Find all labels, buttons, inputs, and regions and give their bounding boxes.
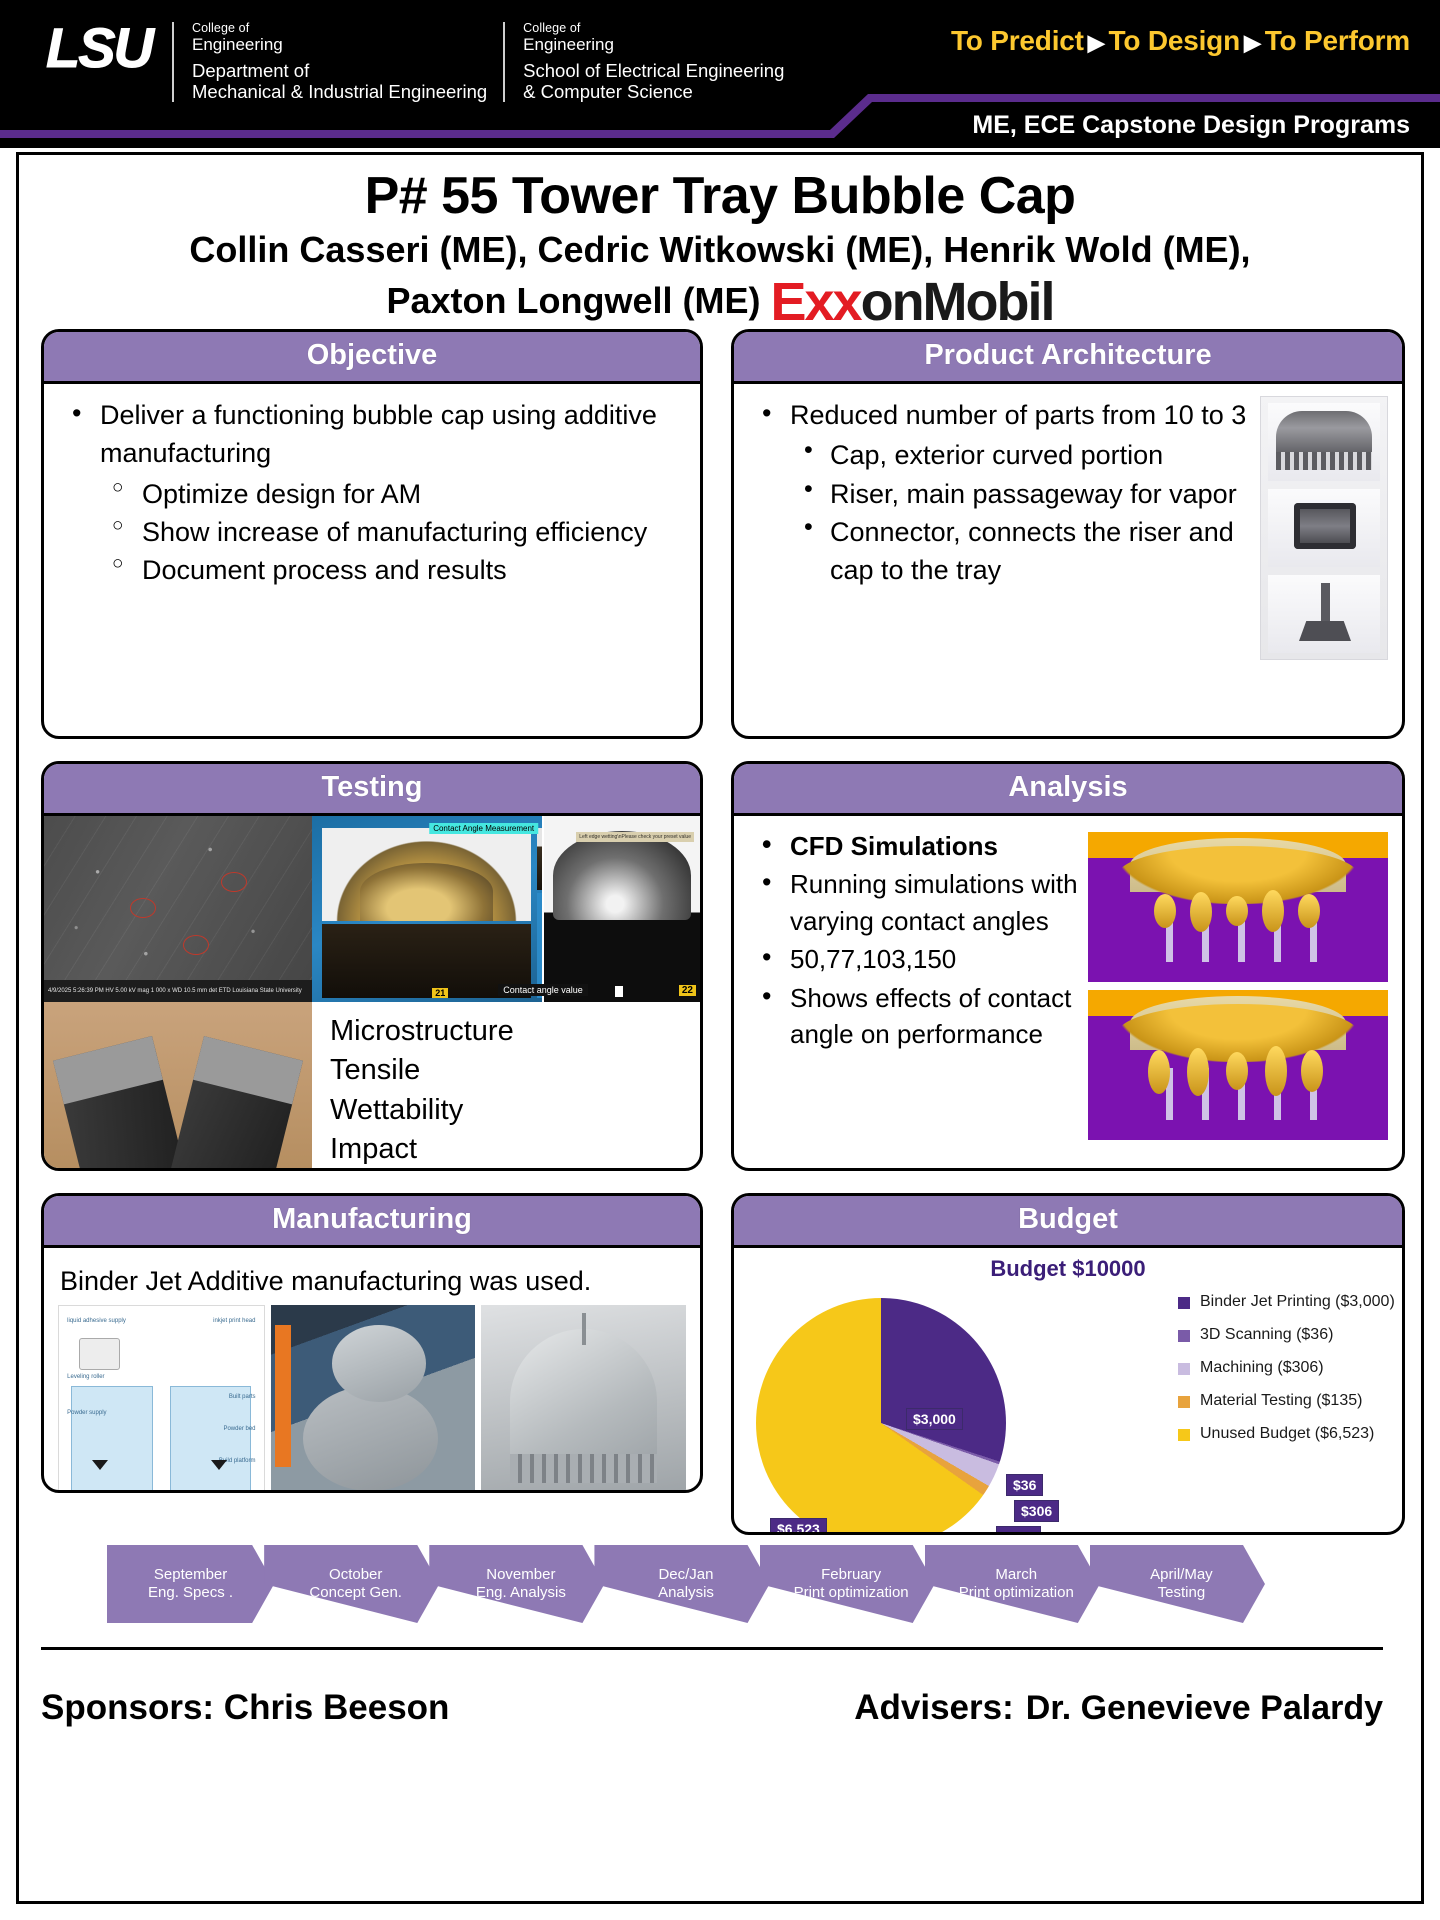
budget-chart-area: $3,000 $36 $306 $135 $6,523 Binder Jet P… [734, 1282, 1402, 1534]
pie-chart-graphic [756, 1298, 1006, 1535]
tagline-predict: To Predict [951, 25, 1084, 56]
legend-item: Machining ($306) [1178, 1358, 1396, 1378]
contact-angle-title: Contact Angle Measurement [429, 823, 538, 834]
cfd-simulation-top [1088, 832, 1388, 982]
legend-label: 3D Scanning ($36) [1200, 1325, 1333, 1345]
list-item: Show increase of manufacturing efficienc… [102, 513, 686, 551]
legend-item: 3D Scanning ($36) [1178, 1325, 1396, 1345]
pie-label-machining: $306 [1014, 1500, 1059, 1522]
list-item: 50,77,103,150 [748, 941, 1082, 977]
card-testing: Testing 4/9/2025 5:26:39 PM HV 5.00 kV m… [41, 761, 703, 1171]
analysis-text: CFD Simulations Running simulations with… [748, 828, 1082, 1140]
timeline-month: February [821, 1566, 881, 1584]
card-budget-heading: Budget [734, 1196, 1402, 1248]
list-item: Document process and results [102, 551, 686, 589]
dept-me-engineering: Engineering [192, 35, 487, 54]
frame-number-21: 21 [432, 988, 448, 998]
pie-label-material-testing: $135 [996, 1526, 1041, 1535]
legend-swatch-icon [1178, 1396, 1190, 1408]
contact-angle-left-panel [322, 828, 531, 998]
timeline-task: Analysis [658, 1584, 714, 1602]
architecture-text: Reduced number of parts from 10 to 3 Cap… [748, 396, 1254, 660]
architecture-part-images [1260, 396, 1388, 660]
card-budget: Budget Budget $10000 $3,000 $36 $306 $13… [731, 1193, 1405, 1535]
card-objective-body: Deliver a functioning bubble cap using a… [44, 384, 700, 602]
sponsors-text: Sponsors: Chris Beeson [41, 1688, 449, 1728]
advisers-block: Advisers: Dr. Genevieve Palardy [854, 1688, 1383, 1728]
contact-angle-value-box [615, 986, 623, 997]
exxon-logo-dark: onMobil [861, 272, 1054, 332]
budget-chart-title: Budget $10000 [734, 1248, 1402, 1282]
contact-angle-value-label: Contact angle value [498, 984, 588, 996]
timeline-task: Testing [1158, 1584, 1206, 1602]
exxon-logo-red: Exx [770, 272, 860, 332]
title-area: P# 55 Tower Tray Bubble Cap Collin Casse… [19, 155, 1421, 329]
card-manufacturing-heading: Manufacturing [44, 1196, 700, 1248]
diagram-label-5: Powder bed [223, 1426, 255, 1432]
authors-line-2-row: Paxton Longwell (ME) ExxonMobil [41, 276, 1399, 325]
card-analysis-heading: Analysis [734, 764, 1402, 816]
legend-swatch-icon [1178, 1363, 1190, 1375]
sem-micrograph-image: 4/9/2025 5:26:39 PM HV 5.00 kV mag 1 000… [44, 816, 312, 1002]
card-analysis-body: CFD Simulations Running simulations with… [734, 816, 1402, 1152]
card-objective-heading: Objective [44, 332, 700, 384]
tagline-perform: To Perform [1265, 25, 1410, 56]
card-objective: Objective Deliver a functioning bubble c… [41, 329, 703, 739]
legend-label: Material Testing ($135) [1200, 1391, 1362, 1411]
tagline-design: To Design [1109, 25, 1240, 56]
authors-line-1: Collin Casseri (ME), Cedric Witkowski (M… [41, 230, 1399, 270]
timeline-step: March Print optimization [925, 1545, 1100, 1623]
timeline-month: Dec/Jan [658, 1566, 713, 1584]
list-item: CFD Simulations [748, 828, 1082, 864]
poster-header: LSU College of Engineering Department of… [0, 0, 1440, 148]
testing-type-list: Microstructure Tensile Wettability Impac… [312, 1002, 700, 1171]
timeline-task: Print optimization [794, 1584, 909, 1602]
pie-label-3d-scanning: $36 [1006, 1474, 1043, 1496]
analysis-images [1088, 828, 1388, 1140]
diagram-label-3: Powder supply [67, 1410, 106, 1416]
list-item: Wettability [330, 1091, 700, 1130]
objective-sub-list: Optimize design for AM Show increase of … [102, 475, 686, 590]
list-item: Impact [330, 1130, 700, 1169]
diagram-label-0: liquid adhesive supply [67, 1318, 126, 1324]
legend-swatch-icon [1178, 1429, 1190, 1441]
card-architecture-heading: Product Architecture [734, 332, 1402, 384]
architecture-bullet-list: Reduced number of parts from 10 to 3 [748, 396, 1254, 434]
timeline-step: April/May Testing [1090, 1545, 1265, 1623]
legend-item: Binder Jet Printing ($3,000) [1178, 1292, 1396, 1312]
frame-number-22: 22 [679, 985, 696, 996]
authors-line-2: Paxton Longwell (ME) [386, 281, 760, 321]
diagram-label-2: Leveling roller [67, 1374, 104, 1380]
poster-root: LSU College of Engineering Department of… [0, 0, 1440, 1920]
authors-line-2-text: Paxton Longwell (ME [386, 280, 748, 321]
timeline-month: April/May [1150, 1566, 1213, 1584]
contact-angle-note: Left edge wetting\nPlease check your pre… [576, 832, 694, 842]
list-item: Tensile [330, 1051, 700, 1090]
timeline-step: February Print optimization [760, 1545, 935, 1623]
authors-line-2-tail: ) [748, 280, 760, 321]
binder-jet-diagram-image: liquid adhesive supply inkjet print head… [58, 1305, 265, 1493]
testing-content: 4/9/2025 5:26:39 PM HV 5.00 kV mag 1 000… [44, 816, 700, 1171]
timeline-task: Concept Gen. [309, 1584, 402, 1602]
legend-item: Material Testing ($135) [1178, 1391, 1396, 1411]
riser-part-image [1268, 489, 1380, 567]
contact-angle-screen-image: Contact Angle Measurement Left edge wett… [312, 816, 700, 1002]
card-product-architecture: Product Architecture Reduced number of p… [731, 329, 1405, 739]
timeline-task: Print optimization [959, 1584, 1074, 1602]
project-timeline: September Eng. Specs . October Concept G… [107, 1545, 1255, 1623]
dept-ece-engineering: Engineering [523, 35, 784, 54]
capstone-programs-label: ME, ECE Capstone Design Programs [972, 111, 1410, 140]
legend-item: Unused Budget ($6,523) [1178, 1424, 1396, 1444]
content-grid: Objective Deliver a functioning bubble c… [19, 329, 1421, 335]
legend-label: Binder Jet Printing ($3,000) [1200, 1292, 1395, 1312]
printed-parts-photo [271, 1305, 476, 1493]
pie-chart: $3,000 $36 $306 $135 $6,523 [740, 1282, 1172, 1534]
sem-caption-bar: 4/9/2025 5:26:39 PM HV 5.00 kV mag 1 000… [44, 980, 312, 1002]
poster-sheet: P# 55 Tower Tray Bubble Cap Collin Casse… [16, 152, 1424, 1904]
timeline-month: March [995, 1566, 1037, 1584]
list-item: Connector, connects the riser and cap to… [792, 513, 1254, 590]
card-architecture-body: Reduced number of parts from 10 to 3 Cap… [734, 384, 1402, 672]
list-item: Deliver a functioning bubble cap using a… [58, 396, 686, 473]
dept-me-college: College of [192, 21, 487, 35]
budget-legend: Binder Jet Printing ($3,000) 3D Scanning… [1172, 1282, 1396, 1534]
cfd-simulation-bottom [1088, 990, 1388, 1140]
legend-swatch-icon [1178, 1297, 1190, 1309]
bubble-cap-photo [481, 1305, 686, 1493]
timeline-step: September Eng. Specs . [107, 1545, 274, 1623]
card-manufacturing-body: Binder Jet Additive manufacturing was us… [44, 1248, 700, 1493]
header-tagline: To Predict▶To Design▶To Perform [951, 25, 1410, 57]
card-analysis: Analysis CFD Simulations Running simulat… [731, 761, 1405, 1171]
list-item: Cap, exterior curved portion [792, 436, 1254, 474]
connector-part-image [1268, 575, 1380, 653]
card-testing-heading: Testing [44, 764, 700, 816]
triangle-right-icon-2: ▶ [1240, 30, 1265, 55]
diagram-label-1: inkjet print head [213, 1318, 255, 1324]
timeline-month: October [329, 1566, 382, 1584]
list-item: Shows effects of contact angle on perfor… [748, 980, 1082, 1053]
objective-bullet-list: Deliver a functioning bubble cap using a… [58, 396, 686, 473]
poster-footer: Sponsors: Chris Beeson Advisers: Dr. Gen… [41, 1665, 1383, 1751]
page-title: P# 55 Tower Tray Bubble Cap [41, 169, 1399, 224]
diagram-label-4: Built parts [229, 1394, 256, 1400]
list-item: Reduced number of parts from 10 to 3 [748, 396, 1254, 434]
timeline-step: Dec/Jan Analysis [594, 1545, 769, 1623]
pie-label-unused-budget: $6,523 [770, 1518, 827, 1535]
legend-label: Unused Budget ($6,523) [1200, 1424, 1374, 1444]
list-item: Running simulations with varying contact… [748, 866, 1082, 939]
manufacturing-statement: Binder Jet Additive manufacturing was us… [58, 1260, 686, 1305]
dept-ece-line1: School of Electrical Engineering [523, 61, 784, 82]
advisers-name: Dr. Genevieve Palardy [1026, 1689, 1383, 1728]
timeline-month: November [486, 1566, 555, 1584]
pie-label-binder-jet: $3,000 [906, 1408, 963, 1430]
impact-specimen-image [44, 1002, 312, 1171]
lsu-logo: LSU [46, 20, 156, 76]
architecture-sub-list: Cap, exterior curved portion Riser, main… [792, 436, 1254, 589]
timeline-step: November Eng. Analysis [429, 1545, 604, 1623]
exxonmobil-logo: ExxonMobil [770, 278, 1053, 327]
dept-me-line1: Department of [192, 61, 487, 82]
droplet-closeup-image: 22 [542, 816, 700, 1002]
dept-ece-college: College of [523, 21, 784, 35]
legend-swatch-icon [1178, 1330, 1190, 1342]
timeline-task: Eng. Specs . [148, 1584, 233, 1602]
manufacturing-images: liquid adhesive supply inkjet print head… [58, 1305, 686, 1493]
timeline-task: Eng. Analysis [476, 1584, 566, 1602]
legend-label: Machining ($306) [1200, 1358, 1324, 1378]
list-item: Riser, main passageway for vapor [792, 475, 1254, 513]
timeline-month: September [154, 1566, 227, 1584]
footer-divider [41, 1647, 1383, 1650]
timeline-step: October Concept Gen. [264, 1545, 439, 1623]
cap-part-image [1268, 403, 1380, 481]
sem-caption: 4/9/2025 5:26:39 PM HV 5.00 kV mag 1 000… [48, 988, 302, 994]
triangle-right-icon: ▶ [1084, 30, 1109, 55]
advisers-label: Advisers: [854, 1688, 1014, 1728]
list-item: Optimize design for AM [102, 475, 686, 513]
card-manufacturing: Manufacturing Binder Jet Additive manufa… [41, 1193, 703, 1493]
list-item: Microstructure [330, 1012, 700, 1051]
analysis-bullet-list: CFD Simulations Running simulations with… [748, 828, 1082, 1052]
